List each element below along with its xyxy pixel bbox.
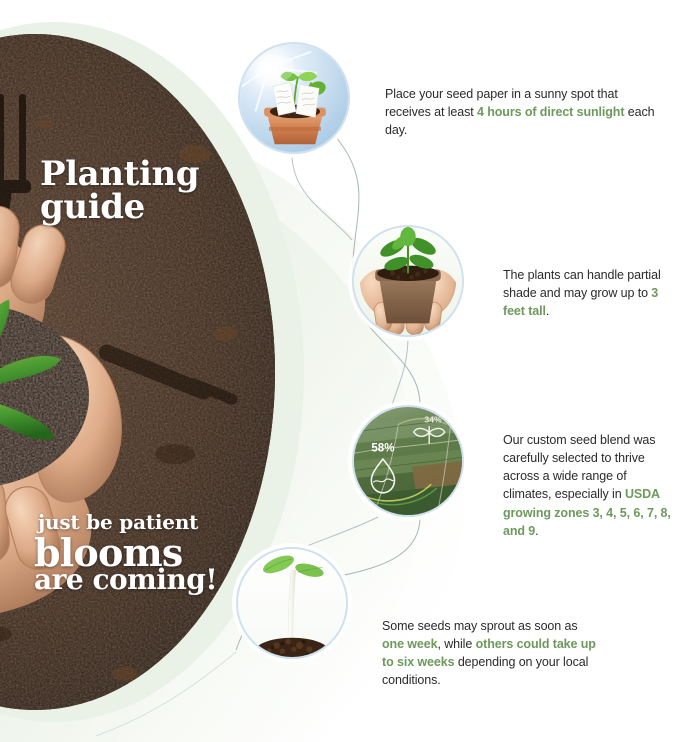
emphasis-text: USDA growing zones 3, 4, 5, 6, 7, 8, and…	[503, 487, 671, 538]
emphasis-text: 3 feet tall	[503, 286, 658, 318]
step-3-text: Our custom seed blend was carefully sele…	[503, 431, 678, 541]
step-4-image[interactable]	[236, 547, 348, 659]
step-4-text: Some seeds may sprout as soon as one wee…	[382, 617, 597, 690]
step-2-text: The plants can handle partial shade and …	[503, 266, 679, 321]
hero-title: Planting guide	[40, 158, 270, 225]
hero-title-line-1: Planting	[40, 158, 270, 191]
infographic-canvas: Planting guide just be patient blooms ar…	[0, 0, 679, 742]
hero-coming: are coming!	[34, 566, 217, 594]
step-3-image[interactable]: 58% 34%	[352, 405, 464, 517]
step-2-image[interactable]	[352, 225, 464, 337]
step-3-overlay-58: 58%	[371, 442, 394, 454]
step-1-text: Place your seed paper in a sunny spot th…	[385, 85, 655, 140]
emphasis-text: 4 hours of direct sunlight	[477, 105, 624, 119]
step-1-image[interactable]	[238, 42, 350, 154]
emphasis-text: one week	[382, 637, 437, 651]
hero-title-line-2: guide	[40, 191, 270, 224]
hero-kicker: just be patient	[38, 512, 198, 532]
